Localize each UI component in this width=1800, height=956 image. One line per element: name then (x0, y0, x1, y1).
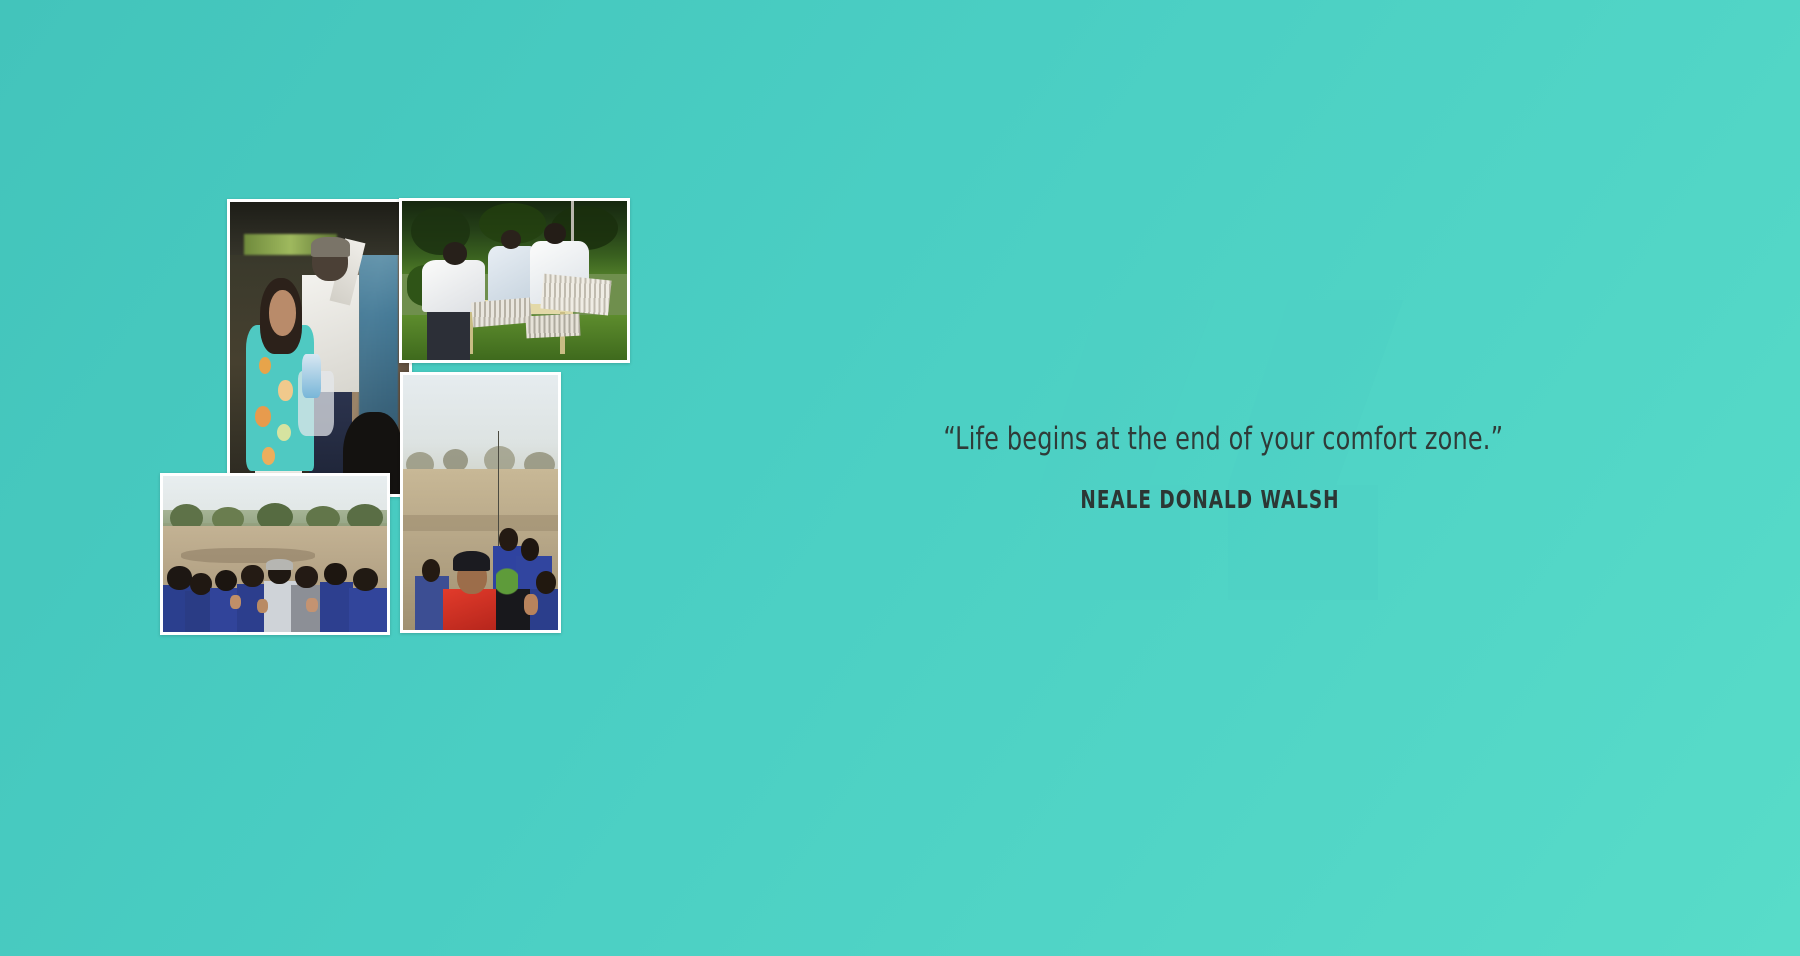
photo-collage (0, 0, 780, 760)
quote-block: “Life begins at the end of your comfort … (900, 420, 1520, 514)
photo-students-sorting-newspapers-image (402, 201, 627, 360)
photo-student-crowd-field[interactable] (160, 473, 390, 635)
photo-tree-planting[interactable] (400, 372, 561, 633)
quote-text: “Life begins at the end of your comfort … (943, 420, 1476, 459)
photo-student-crowd-field-image (163, 476, 387, 632)
quote-author: NEALE DONALD WALSH (956, 485, 1464, 514)
photo-wall-painting[interactable] (227, 199, 412, 497)
photo-students-sorting-newspapers[interactable] (399, 198, 630, 363)
quote-slide: “Life begins at the end of your comfort … (0, 0, 1800, 956)
photo-wall-painting-image (230, 202, 409, 494)
photo-tree-planting-image (403, 375, 558, 630)
